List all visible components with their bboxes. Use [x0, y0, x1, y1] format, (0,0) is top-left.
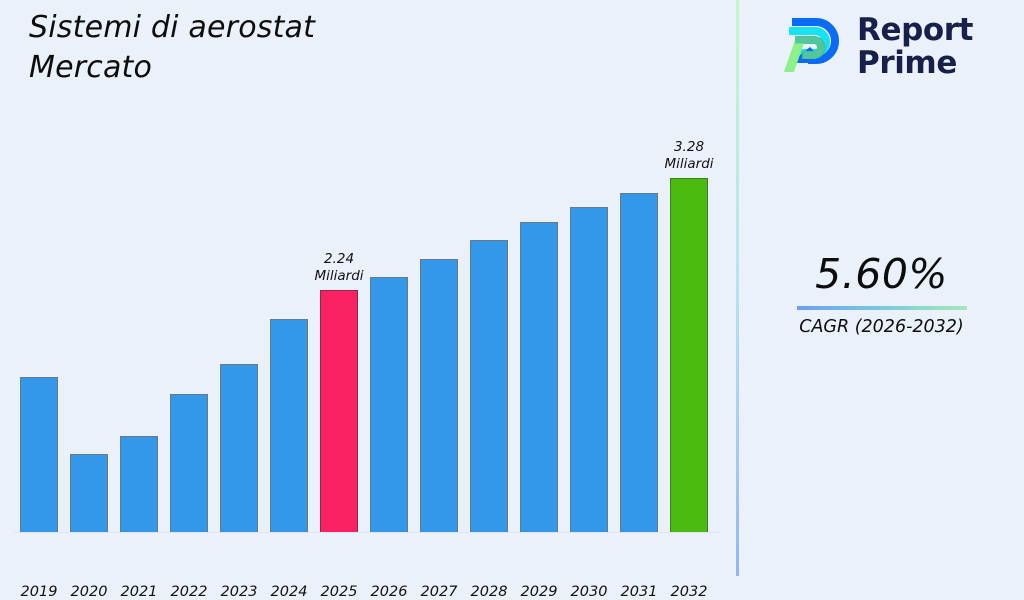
cagr-divider-rule [797, 306, 967, 310]
bar-rect-2027[interactable] [420, 259, 458, 532]
bar-2026[interactable]: 2026 [370, 44, 408, 532]
bar-rect-2025[interactable] [320, 290, 358, 532]
cagr-block: 5.60% CAGR (2026-2032) [739, 252, 1024, 337]
bar-2025[interactable]: 2.24 Miliardi2025 [320, 44, 358, 532]
x-axis-label-2028: 2028 [463, 584, 515, 600]
bar-rect-2022[interactable] [170, 394, 208, 532]
bar-rect-2030[interactable] [570, 207, 608, 532]
bar-2021[interactable]: 2021 [120, 44, 158, 532]
x-axis-label-2024: 2024 [263, 584, 315, 600]
bar-rect-2029[interactable] [520, 222, 558, 532]
x-axis-label-2026: 2026 [363, 584, 415, 600]
infographic-page: Sistemi di aerostat Mercato 201920202021… [0, 0, 1024, 576]
bar-2030[interactable]: 2030 [570, 44, 608, 532]
bar-2024[interactable]: 2024 [270, 44, 308, 532]
x-axis-label-2025: 2025 [313, 584, 365, 600]
bar-rect-2024[interactable] [270, 319, 308, 532]
bar-rect-2020[interactable] [70, 454, 108, 532]
bar-2028[interactable]: 2028 [470, 44, 508, 532]
x-axis-label-2027: 2027 [413, 584, 465, 600]
x-axis-label-2030: 2030 [563, 584, 615, 600]
bar-rect-2026[interactable] [370, 277, 408, 532]
bar-chart-plot: 2019202020212022202320242.24 Miliardi202… [0, 0, 737, 576]
x-axis-label-2022: 2022 [163, 584, 215, 600]
brand-name: Report Prime [857, 14, 973, 80]
bar-rect-2028[interactable] [470, 240, 508, 532]
x-axis-label-2021: 2021 [113, 584, 165, 600]
bar-2020[interactable]: 2020 [70, 44, 108, 532]
bar-rect-2023[interactable] [220, 364, 258, 532]
bar-rect-2032[interactable] [670, 178, 708, 532]
cagr-value: 5.60% [739, 252, 1024, 297]
bar-2022[interactable]: 2022 [170, 44, 208, 532]
bar-2032[interactable]: 3.28 Miliardi2032 [670, 44, 708, 532]
bar-2031[interactable]: 2031 [620, 44, 658, 532]
brand-logo: Report Prime [778, 14, 973, 80]
x-axis-label-2020: 2020 [63, 584, 115, 600]
x-axis-label-2032: 2032 [663, 584, 715, 600]
bar-2023[interactable]: 2023 [220, 44, 258, 532]
bar-2029[interactable]: 2029 [520, 44, 558, 532]
x-axis-label-2019: 2019 [13, 584, 65, 600]
x-axis-label-2029: 2029 [513, 584, 565, 600]
x-axis-label-2023: 2023 [213, 584, 265, 600]
bar-rect-2021[interactable] [120, 436, 158, 532]
x-axis-line [14, 532, 720, 533]
bar-2019[interactable]: 2019 [20, 44, 58, 532]
bar-2027[interactable]: 2027 [420, 44, 458, 532]
chart-panel: Sistemi di aerostat Mercato 201920202021… [0, 0, 737, 576]
bar-rect-2031[interactable] [620, 193, 658, 532]
report-prime-logo-icon [778, 14, 844, 80]
bar-rect-2019[interactable] [20, 377, 58, 532]
cagr-label: CAGR (2026-2032) [739, 317, 1024, 337]
x-axis-label-2031: 2031 [613, 584, 665, 600]
brand-panel: Report Prime 5.60% CAGR (2026-2032) [739, 0, 1024, 576]
